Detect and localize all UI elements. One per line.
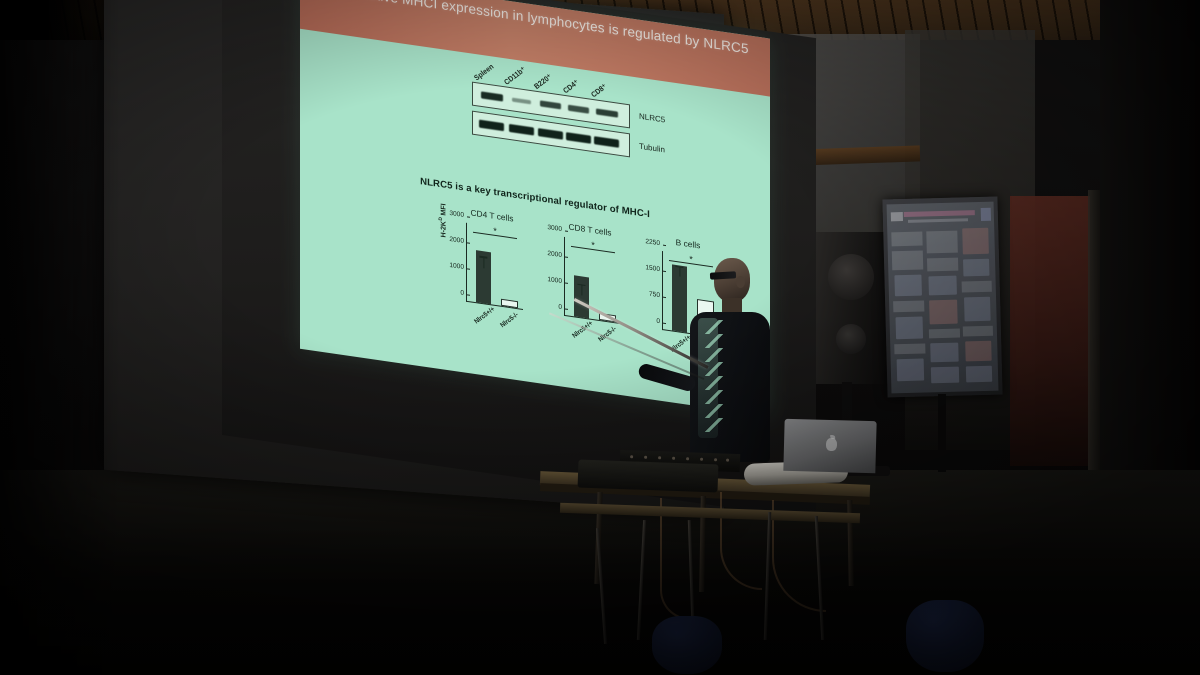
- significance-star: *: [591, 240, 595, 251]
- chart-cd4-t-cells: CD4 T cells H-2KD MFI 0 1000 2000 3000 *: [436, 202, 548, 350]
- chart-y-axis-label: H-2KD MFI: [438, 203, 447, 238]
- bar-wildtype: [476, 250, 491, 304]
- y-tick: 2000: [449, 236, 467, 246]
- scientific-poster: [887, 202, 999, 394]
- blue-bag: [652, 616, 722, 674]
- speaker-woofer: [828, 254, 874, 300]
- projection-screen: Constitutive MHCI expression in lymphocy…: [104, 0, 724, 514]
- poster-logo-left: [891, 212, 903, 222]
- y-tick: 2000: [547, 250, 565, 260]
- y-tick: 750: [649, 291, 663, 300]
- y-tick: 0: [558, 304, 565, 312]
- y-tick: 1000: [547, 276, 565, 286]
- apple-logo-icon: [826, 438, 837, 451]
- y-tick: 0: [460, 289, 467, 297]
- y-tick: 2250: [645, 238, 663, 248]
- blue-bag: [906, 600, 984, 672]
- blot-lane-label: CD4⁺: [561, 78, 581, 96]
- speaker-tweeter: [836, 324, 866, 354]
- bar-wildtype: [672, 265, 687, 333]
- significance-bar: *: [571, 246, 615, 254]
- blot-row-label: NLRC5: [639, 112, 665, 125]
- presenter-ear: [736, 276, 745, 288]
- chart-plot-area: 0 1000 2000 3000 * Nlrc5+/+: [564, 237, 621, 324]
- poster-column-2: [926, 227, 961, 388]
- poster-board-stand: [938, 394, 946, 472]
- presentation-photo-scene: Constitutive MHCI expression in lymphocy…: [0, 0, 1200, 675]
- poster-column-3: [960, 226, 994, 387]
- y-tick: 1500: [645, 264, 663, 274]
- bar-knockout: [501, 299, 518, 308]
- blot-lane-label: Spleen: [472, 62, 496, 83]
- red-door[interactable]: [1010, 196, 1090, 466]
- y-tick: 3000: [449, 210, 467, 220]
- pa-speaker: [812, 232, 890, 384]
- blot-lane-label: B220⁺: [532, 72, 554, 91]
- significance-star: *: [493, 226, 497, 237]
- chart-plot-area: 0 1000 2000 3000 * Nlrc5+/+: [466, 223, 523, 310]
- bar-wildtype: [574, 275, 589, 318]
- chart-cd8-t-cells: CD8 T cells 0 1000 2000 3000 *: [534, 217, 646, 365]
- poster-board: [882, 197, 1002, 398]
- significance-star: *: [689, 254, 693, 265]
- blot-lane-label: CD11b⁺: [502, 65, 527, 87]
- poster-column-1: [891, 228, 926, 389]
- x-tick-label: Nlrc5+/+: [473, 306, 496, 326]
- significance-bar: *: [473, 232, 517, 240]
- western-blot: Spleen CD11b⁺ B220⁺ CD4⁺ CD8⁺ NLRC5: [472, 82, 628, 163]
- blot-lane-label: CD8⁺: [589, 82, 609, 100]
- y-tick: 0: [656, 318, 663, 326]
- blot-row-label: Tubulin: [639, 142, 665, 155]
- poster-logo-right: [981, 207, 991, 220]
- glasses-icon: [710, 271, 736, 279]
- y-tick: 1000: [449, 262, 467, 272]
- projector[interactable]: [578, 460, 719, 493]
- poster-author-block: [908, 218, 968, 223]
- x-tick-label: Nlrc5-/-: [499, 311, 520, 329]
- y-tick: 3000: [547, 224, 565, 234]
- poster-title-block: [904, 210, 975, 218]
